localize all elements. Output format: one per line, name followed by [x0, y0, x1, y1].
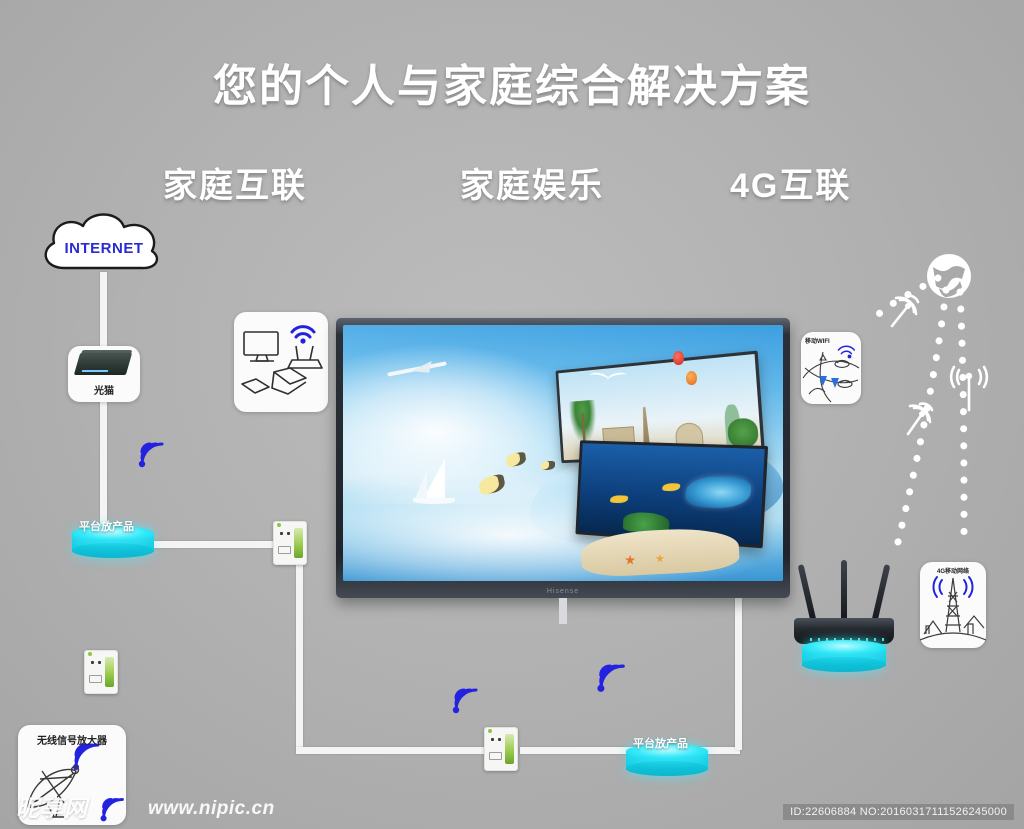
television: Hisense: [336, 318, 790, 598]
tv-brand-label: Hisense: [336, 588, 790, 595]
tv-balloon-orange: [686, 371, 697, 385]
wifi-icon-amplifier: [96, 790, 130, 829]
cable-bottom-left: [296, 747, 492, 754]
subtitle-home-entertainment: 家庭娱乐: [460, 158, 604, 207]
tower-card-label: 4G移动网络: [920, 566, 986, 575]
home-network-devices-icon: [234, 312, 328, 412]
mobile-wifi-label: 移动WIFI: [805, 336, 830, 345]
cable-ont-down: [100, 398, 107, 534]
ont-card: 光猫: [68, 346, 140, 402]
watermark-id-code: ID:22606884 NO:20160317111526245000: [783, 804, 1014, 820]
tv-frame: Hisense: [336, 318, 790, 598]
product-pedestal-bottom-label: 平台放产品: [633, 735, 688, 751]
home-devices-card: [234, 312, 328, 412]
poster-canvas: 您的个人与家庭综合解决方案 家庭互联 家庭娱乐 4G互联 INTERNET 光猫: [0, 0, 1024, 829]
tv-sailboat: [413, 458, 455, 510]
wifi-icon-bottom-center: [592, 655, 632, 700]
router-antenna-left: [798, 564, 817, 622]
wall-socket-bottom: [484, 727, 518, 771]
tv-blue-fish: [685, 474, 751, 509]
router-antenna-center: [841, 560, 847, 622]
subtitle-row: 家庭互联 家庭娱乐 4G互联: [0, 158, 1024, 204]
signal-tower-icon-1: [884, 292, 928, 332]
tv-seagull: [589, 369, 629, 383]
tv-balloon-red: [673, 351, 684, 365]
internet-cloud: INTERNET: [34, 206, 174, 284]
cable-cloud-to-ont: [100, 272, 107, 352]
subtitle-home-interconnect: 家庭互联: [163, 158, 307, 207]
product-pedestal-left-label: 平台放产品: [79, 518, 134, 534]
modem-led: [82, 370, 109, 372]
tower-card: 4G移动网络: [920, 562, 986, 648]
subtitle-4g-interconnect: 4G互联: [730, 158, 851, 207]
watermark-url: www.nipic.cn: [148, 798, 275, 820]
tv-butterfly-fish-3: [541, 461, 555, 470]
cable-socket-down: [296, 562, 303, 747]
signal-tower-icon-3: [946, 362, 992, 414]
signal-tower-icon-2: [900, 398, 944, 440]
mobile-wifi-card: 移动WIFI: [801, 332, 861, 404]
wifi-icon-bottom-left: [448, 680, 484, 721]
tv-yellow-fish-2: [662, 482, 681, 491]
ont-label: 光猫: [68, 382, 140, 397]
cable-pedestal-to-socket: [150, 541, 275, 548]
page-title: 您的个人与家庭综合解决方案: [0, 50, 1024, 114]
amplifier-label: 无线信号放大器: [18, 732, 126, 747]
wifi-icon-ont: [134, 434, 170, 475]
wall-socket-left: [84, 650, 118, 694]
wall-socket-top: [273, 521, 307, 565]
tv-airplane: [387, 363, 451, 375]
router-pedestal: [802, 640, 886, 672]
router-antenna-right: [872, 564, 891, 622]
internet-label: INTERNET: [34, 240, 174, 257]
tv-screen: [343, 325, 783, 581]
cable-tv-to-bottom: [735, 598, 742, 750]
tv-stand: [559, 598, 567, 624]
watermark-site-name: 昵享网: [16, 789, 88, 823]
tv-yellow-fish-1: [610, 494, 628, 503]
